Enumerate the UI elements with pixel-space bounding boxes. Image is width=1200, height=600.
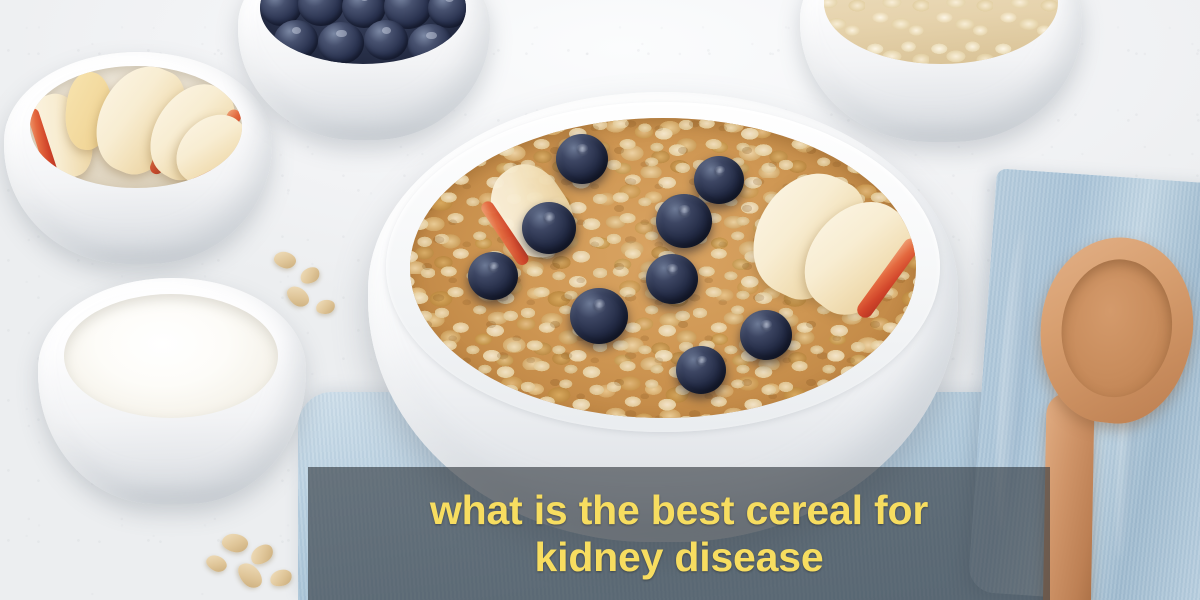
food-photo-scene: what is the best cereal for kidney disea… bbox=[0, 0, 1200, 600]
caption-line-1: what is the best cereal for bbox=[430, 488, 928, 532]
title-caption-banner: what is the best cereal for kidney disea… bbox=[308, 467, 1050, 600]
spoon-handle bbox=[1043, 392, 1095, 600]
blueberry-crown bbox=[487, 263, 500, 274]
blueberry bbox=[318, 22, 364, 64]
blueberry bbox=[556, 134, 608, 184]
caption-line-2: kidney disease bbox=[535, 535, 824, 579]
blueberry bbox=[646, 254, 698, 304]
apple-slices-content bbox=[30, 66, 242, 188]
blueberry bbox=[274, 20, 318, 60]
blueberry bbox=[408, 24, 454, 64]
blueberry bbox=[522, 202, 576, 254]
blueberry bbox=[364, 20, 408, 60]
blueberry-crown bbox=[542, 213, 556, 224]
blueberry-crown bbox=[713, 167, 726, 178]
blueberry bbox=[676, 346, 726, 394]
blueberries-content bbox=[260, 0, 466, 64]
bowl-of-apple-slices bbox=[4, 52, 272, 264]
blueberry-crown bbox=[759, 321, 773, 332]
blueberry-crown bbox=[591, 300, 606, 312]
blueberry bbox=[468, 252, 518, 300]
cereal-content bbox=[410, 118, 916, 418]
apple-skin bbox=[204, 139, 242, 188]
blueberry-crown bbox=[575, 145, 589, 156]
blueberry bbox=[656, 194, 712, 248]
milk-surface bbox=[64, 294, 278, 418]
blueberry bbox=[740, 310, 792, 360]
blueberry-crown bbox=[695, 357, 708, 368]
rolled-oats-content bbox=[824, 0, 1058, 64]
blueberry bbox=[694, 156, 744, 204]
bowl-of-milk-yogurt bbox=[38, 278, 306, 504]
blueberry bbox=[570, 288, 628, 344]
oat-flakes-texture bbox=[824, 0, 1058, 64]
blueberry-crown bbox=[665, 265, 679, 276]
blueberry-crown bbox=[677, 206, 692, 218]
apple-skin bbox=[30, 107, 59, 179]
